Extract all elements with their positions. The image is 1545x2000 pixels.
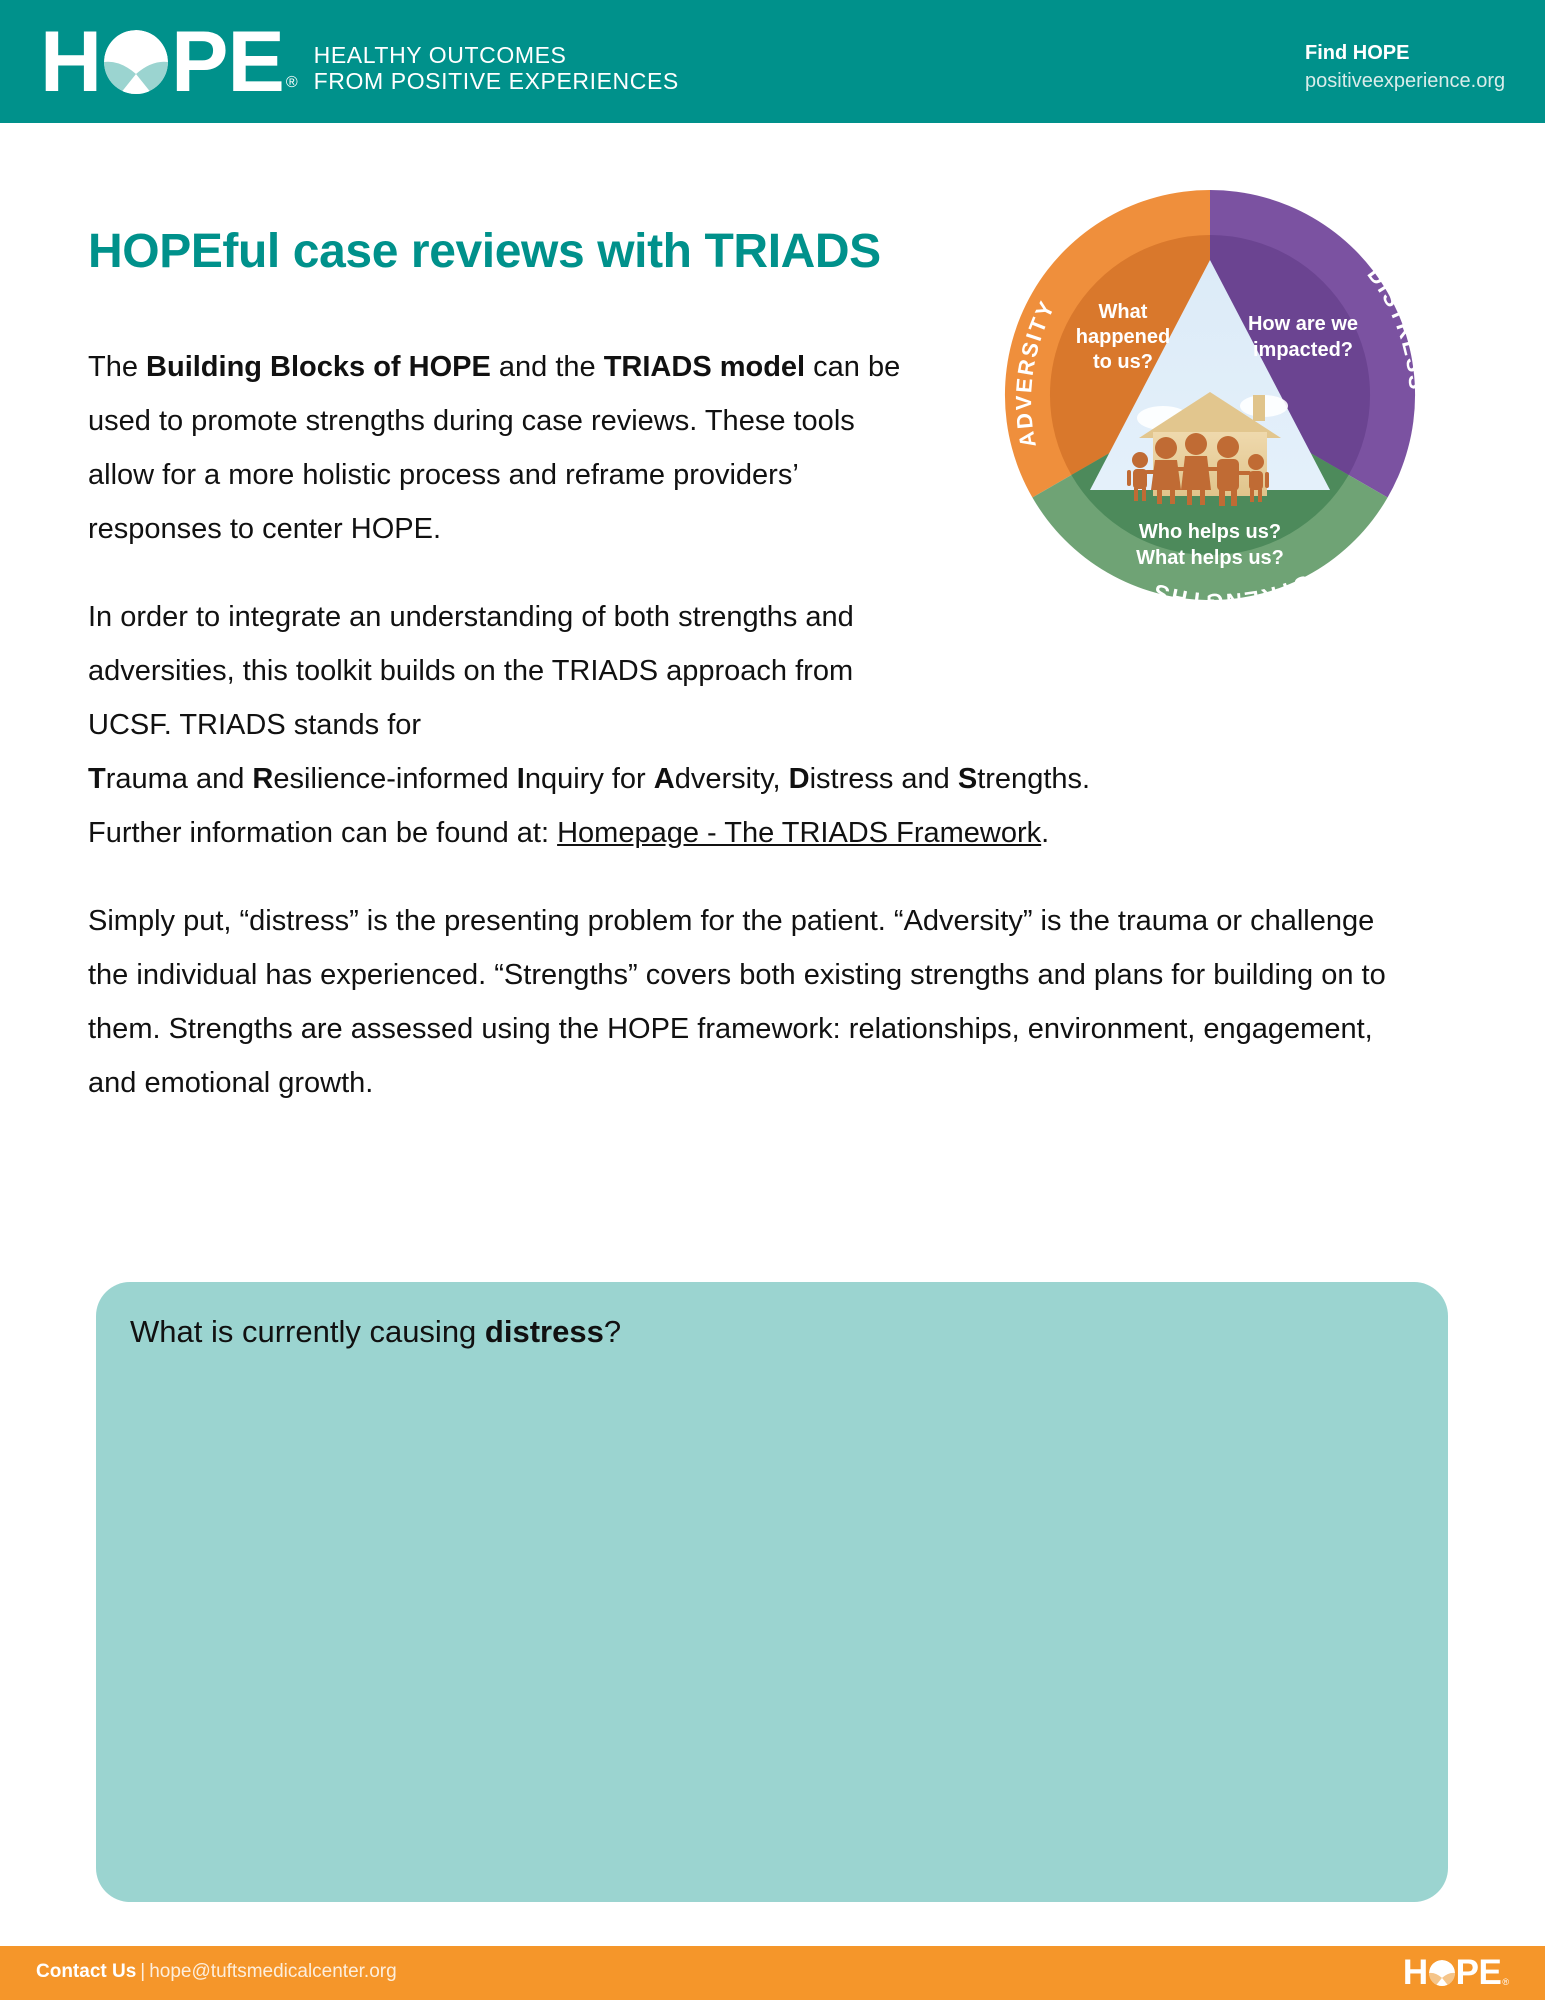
footer-hope-sunrise-icon [1429,1960,1455,1986]
p1-bold-triads-model: TRIADS model [604,351,805,383]
p2-bold-r: R [252,763,273,795]
p2-text-2: rauma and [106,763,253,795]
p2-text-8: Further information can be found at: [88,817,557,849]
p2-bold-a: A [654,763,675,795]
logo-letter-h: H [40,26,101,98]
question-distress-line1: How are we [1248,313,1358,335]
p2-text-6: istress and [810,763,958,795]
question-prefix: What is currently causing [130,1314,485,1349]
footer-separator: | [136,1961,149,1982]
hope-sunrise-icon [104,30,168,94]
page-title: HOPEful case reviews with TRIADS [88,224,881,279]
logo-registered-mark: ® [286,74,298,98]
p2-text-3: esilience-informed [273,763,516,795]
hope-logo-header: H P E ® HEALTHY OUTCOMES FROM PO [40,26,679,98]
p1-bold-building-blocks: Building Blocks of HOPE [146,351,491,383]
footer-logo-letter-h: H [1403,1957,1428,1989]
contact-us-label: Contact Us [36,1961,136,1982]
website-url-link[interactable]: positiveexperience.org [1305,66,1545,96]
p2-bold-i: I [517,763,525,795]
paragraph-2: In order to integrate an understanding o… [88,590,1418,860]
distress-answer-box[interactable]: What is currently causing distress? [96,1282,1448,1902]
contact-email-link[interactable]: hope@tuftsmedicalcenter.org [149,1961,396,1982]
paragraph-1: The Building Blocks of HOPE and the TRIA… [88,340,928,556]
p1-text-2: and the [491,351,604,383]
question-bold-distress: distress [485,1314,604,1349]
question-suffix: ? [604,1314,621,1349]
p2-text-5: dversity, [675,763,789,795]
page-header: H P E ® HEALTHY OUTCOMES FROM PO [0,0,1545,123]
footer-logo-letter-p: P [1456,1957,1479,1989]
p2-text-9: . [1041,817,1049,849]
footer-logo-letter-e: E [1479,1957,1502,1989]
body-copy: The Building Blocks of HOPE and the TRIA… [88,340,1458,1144]
triads-framework-link[interactable]: Homepage - The TRIADS Framework [557,817,1041,849]
hope-logo-footer: H P E ® [1403,1957,1509,1989]
logo-letter-p: P [171,26,227,98]
footer-logo-registered-mark: ® [1502,1977,1509,1989]
footer-contact: Contact Us|hope@tuftsmedicalcenter.org [36,1961,397,1983]
p2-bold-s: S [958,763,977,795]
p2-text-7: trengths. [977,763,1090,795]
page-footer: Contact Us|hope@tuftsmedicalcenter.org H… [0,1946,1545,2000]
p2-bold-d: D [789,763,810,795]
p2-bold-t: T [88,763,106,795]
tagline-line-2: FROM POSITIVE EXPERIENCES [314,68,679,94]
header-tagline: HEALTHY OUTCOMES FROM POSITIVE EXPERIENC… [314,42,679,98]
p2-text-4: nquiry for [525,763,654,795]
hope-wordmark: H P E ® [40,26,298,98]
find-hope-label: Find HOPE [1305,40,1545,66]
header-find-hope-block: Find HOPE positiveexperience.org [1305,40,1545,96]
p1-text-1: The [88,351,146,383]
p2-text-1: In order to integrate an understanding o… [88,590,928,752]
question-adversity-line1: What [1099,301,1148,323]
distress-question-label: What is currently causing distress? [130,1310,621,1354]
paragraph-3: Simply put, “distress” is the presenting… [88,894,1418,1110]
tagline-line-1: HEALTHY OUTCOMES [314,42,679,68]
logo-letter-e: E [227,26,283,98]
